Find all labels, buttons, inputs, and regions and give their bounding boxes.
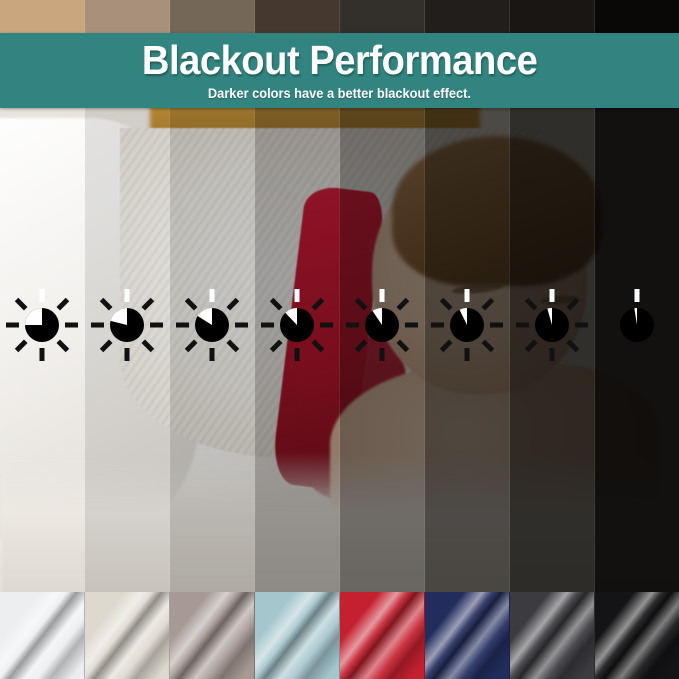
- fabric-sheen: [340, 592, 425, 679]
- overlay-column-7: [510, 108, 595, 592]
- swatch-taupe[interactable]: [170, 592, 255, 679]
- swatch-white[interactable]: [0, 592, 85, 679]
- blackout-overlay-columns: [0, 108, 679, 592]
- fabric-sheen: [170, 592, 255, 679]
- overlay-column-1: [0, 108, 85, 592]
- fabric-sheen: [255, 592, 340, 679]
- shade-band-2: [85, 0, 170, 33]
- shade-band-4: [255, 0, 340, 33]
- shade-band-1: [0, 0, 85, 33]
- shade-gradient-strip: [0, 0, 679, 33]
- overlay-column-4: [255, 108, 340, 592]
- overlay-column-8: [595, 108, 679, 592]
- overlay-column-2: [85, 108, 170, 592]
- shade-band-5: [340, 0, 425, 33]
- swatch-light-blue[interactable]: [255, 592, 340, 679]
- swatch-navy[interactable]: [425, 592, 510, 679]
- swatch-cream[interactable]: [85, 592, 170, 679]
- page-title: Blackout Performance: [142, 40, 537, 81]
- overlay-column-3: [170, 108, 255, 592]
- fabric-sheen: [85, 592, 170, 679]
- fabric-sheen: [595, 592, 679, 679]
- page-subtitle: Darker colors have a better blackout eff…: [208, 86, 471, 101]
- fabric-sheen: [510, 592, 595, 679]
- product-photo: [0, 108, 679, 592]
- header-banner: Blackout Performance Darker colors have …: [0, 33, 679, 108]
- shade-band-6: [425, 0, 510, 33]
- fabric-sheen: [0, 592, 85, 679]
- fabric-sheen: [425, 592, 510, 679]
- shade-band-7: [510, 0, 595, 33]
- overlay-column-6: [425, 108, 510, 592]
- shade-band-8: [595, 0, 679, 33]
- swatch-charcoal[interactable]: [510, 592, 595, 679]
- overlay-column-5: [340, 108, 425, 592]
- swatch-red[interactable]: [340, 592, 425, 679]
- color-swatch-row: [0, 592, 679, 679]
- shade-band-3: [170, 0, 255, 33]
- blackout-performance-infographic: Blackout Performance Darker colors have …: [0, 0, 679, 679]
- swatch-black[interactable]: [595, 592, 679, 679]
